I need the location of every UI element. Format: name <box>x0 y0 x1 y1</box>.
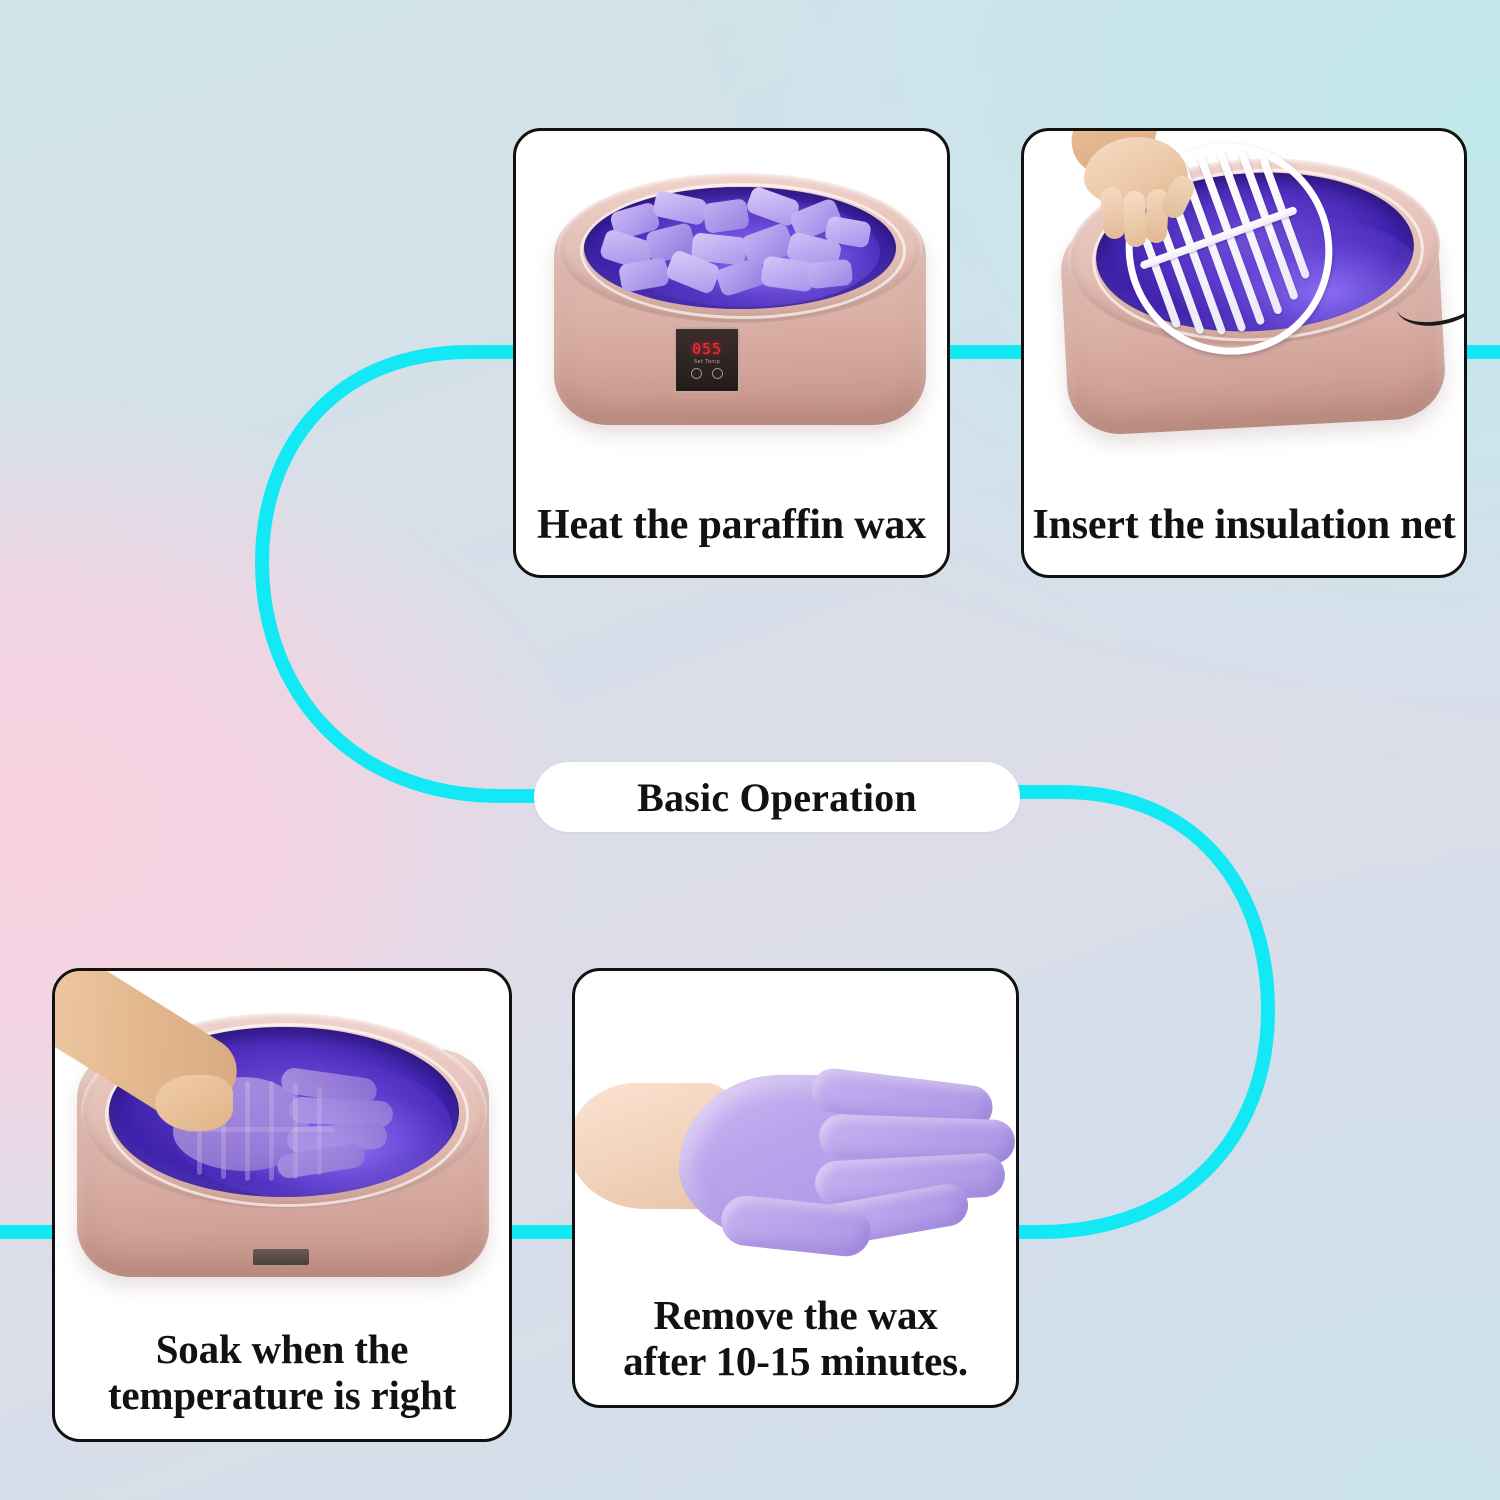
finger <box>1123 191 1147 248</box>
device-control-panel[interactable]: 055 Set Temp <box>674 327 740 393</box>
step-caption-remove: Remove the wax after 10-15 minutes. <box>572 1293 1019 1405</box>
wax-coated-hand-illustration <box>575 971 1016 1293</box>
step-image-soak <box>55 971 509 1327</box>
control-button-row[interactable] <box>691 368 723 379</box>
forearm-entering-bath <box>55 971 265 1165</box>
device-vent <box>253 1249 309 1265</box>
step-card-insert[interactable]: Insert the insulation net <box>1021 128 1467 578</box>
connector-right-arc <box>1019 792 1268 1232</box>
step-image-insert <box>1024 131 1464 502</box>
step-caption-soak: Soak when the temperature is right <box>52 1327 512 1439</box>
step-caption-soak-line1: Soak when the <box>55 1327 509 1373</box>
insulation-net-insertion-illustration <box>1024 131 1464 502</box>
wax-bath-with-solid-wax-illustration: 055 Set Temp <box>516 131 947 502</box>
step-image-heat: 055 Set Temp <box>516 131 947 502</box>
hand-holding-net <box>1072 131 1232 235</box>
infographic-canvas: 055 Set Temp Heat the paraffin wax <box>0 0 1500 1500</box>
step-caption-remove-line2: after 10-15 minutes. <box>575 1339 1016 1385</box>
center-title-label: Basic Operation <box>637 774 917 821</box>
wax-chunk <box>702 198 750 234</box>
step-card-heat[interactable]: 055 Set Temp Heat the paraffin wax <box>513 128 950 578</box>
step-caption-heat: Heat the paraffin wax <box>516 502 947 575</box>
led-temperature-readout: 055 <box>692 342 722 357</box>
power-button-icon[interactable] <box>691 368 702 379</box>
step-caption-remove-line1: Remove the wax <box>575 1293 1016 1339</box>
step-caption-insert: Insert the insulation net <box>1024 502 1464 575</box>
wrist <box>155 1075 233 1131</box>
hand-soaking-in-wax-illustration <box>55 971 509 1327</box>
step-card-soak[interactable]: Soak when the temperature is right <box>52 968 512 1442</box>
settings-button-icon[interactable] <box>712 368 723 379</box>
wax-chunk <box>807 259 853 289</box>
step-image-remove <box>575 971 1016 1293</box>
step-caption-soak-line2: temperature is right <box>55 1373 509 1419</box>
center-title-badge: Basic Operation <box>534 762 1020 832</box>
step-card-remove[interactable]: Remove the wax after 10-15 minutes. <box>572 968 1019 1408</box>
led-sublabel: Set Temp <box>694 360 720 365</box>
connector-left-arc <box>262 352 534 796</box>
